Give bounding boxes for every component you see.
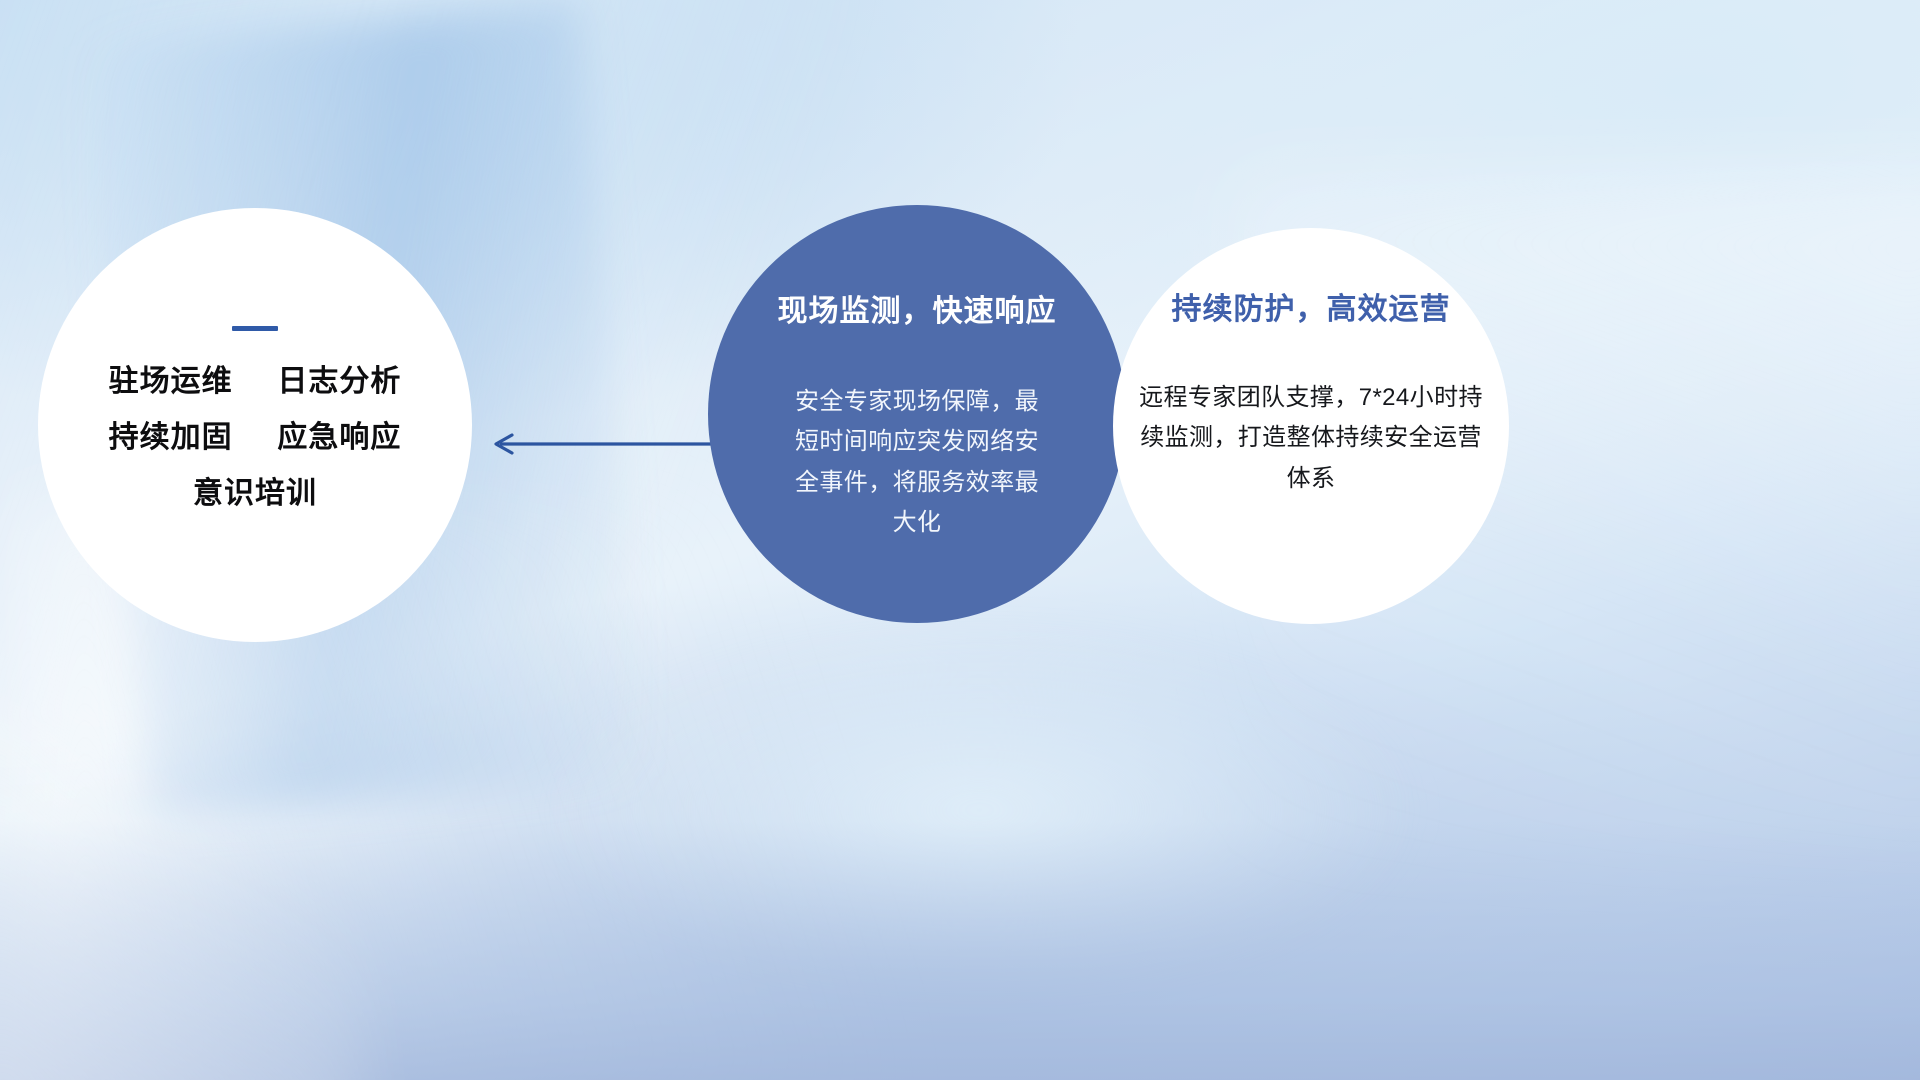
capability-keyword-list: 驻场运维 日志分析 持续加固 应急响应 意识培训 [109, 367, 402, 509]
capability-circle-left[interactable]: 驻场运维 日志分析 持续加固 应急响应 意识培训 [38, 208, 472, 642]
list-item: 驻场运维 日志分析 [109, 367, 402, 397]
keyword-continuous-hardening: 持续加固 [109, 421, 233, 454]
circle-middle-title: 现场监测，快速响应 [778, 295, 1057, 328]
capability-circle-right[interactable]: 持续防护，高效运营 远程专家团队支撑，7*24小时持续监测，打造整体持续安全运营… [1113, 228, 1509, 624]
horizontal-dash-icon [232, 326, 278, 331]
keyword-awareness-training: 意识培训 [193, 477, 317, 510]
circle-right-body: 远程专家团队支撑，7*24小时持续监测，打造整体持续安全运营体系 [1135, 378, 1487, 499]
arrow-left-icon [488, 424, 713, 464]
keyword-emergency-response: 应急响应 [277, 421, 401, 454]
circle-middle-body: 安全专家现场保障，最短时间响应突发网络安全事件，将服务效率最大化 [783, 382, 1051, 543]
list-item: 持续加固 应急响应 [109, 423, 402, 453]
background-streak-bottom-left [0, 691, 365, 1080]
keyword-log-analysis: 日志分析 [277, 365, 401, 398]
keyword-onsite-ops: 驻场运维 [109, 365, 233, 398]
slide-canvas: 驻场运维 日志分析 持续加固 应急响应 意识培训 现场监测，快速响应 安全专家现… [0, 0, 1920, 1080]
capability-circle-middle[interactable]: 现场监测，快速响应 安全专家现场保障，最短时间响应突发网络安全事件，将服务效率最… [708, 205, 1126, 623]
circle-right-title: 持续防护，高效运营 [1172, 293, 1451, 326]
list-item: 意识培训 [109, 479, 402, 509]
